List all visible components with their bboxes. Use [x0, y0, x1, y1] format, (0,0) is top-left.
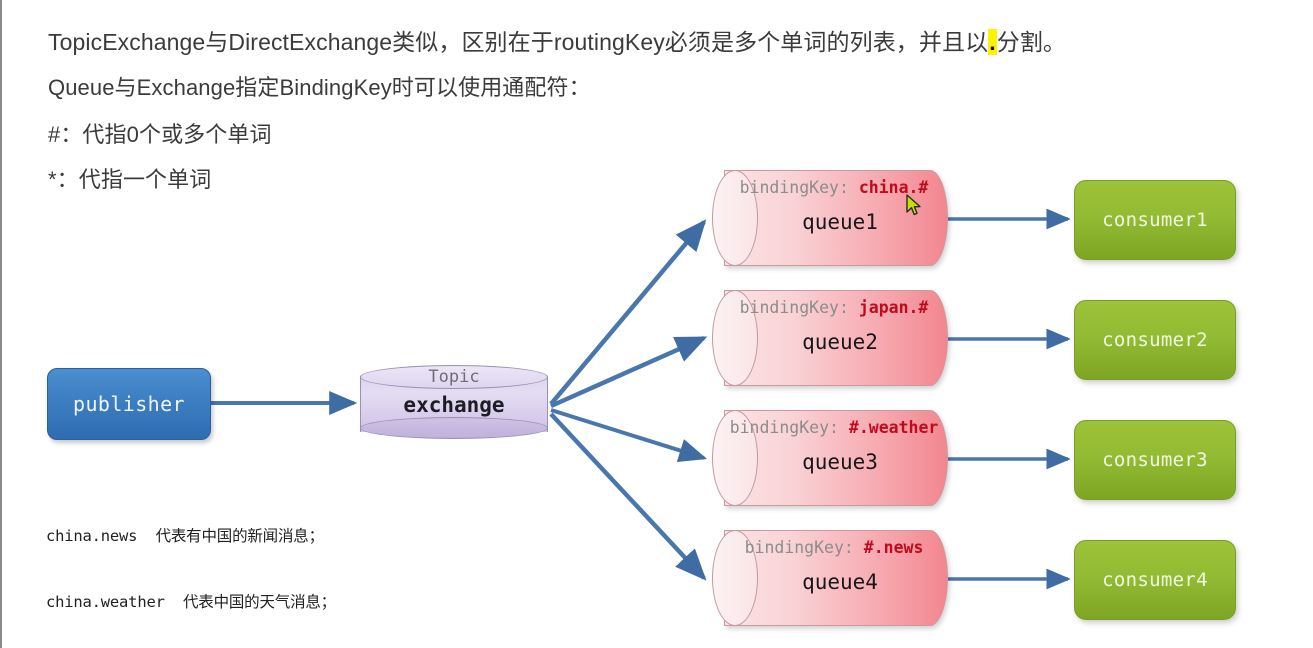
queue-node-2[interactable]: bindingKey: japan.# queue2 — [712, 290, 948, 386]
consumer-label-1: consumer1 — [1102, 209, 1208, 231]
binding-key-value: #.weather — [849, 418, 938, 437]
queue-name-2: queue2 — [726, 330, 954, 354]
consumer-node-4[interactable]: consumer4 — [1074, 540, 1236, 620]
slide-canvas: TopicExchange与DirectExchange类似，区别在于routi… — [0, 0, 1313, 648]
consumer-node-2[interactable]: consumer2 — [1074, 300, 1236, 380]
publisher-node[interactable]: publisher — [47, 368, 211, 440]
binding-key-label: bindingKey: — [745, 538, 854, 557]
exchange-name-label: exchange — [360, 393, 548, 417]
consumer-node-3[interactable]: consumer3 — [1074, 420, 1236, 500]
explanation-text-block: TopicExchange与DirectExchange类似，区别在于routi… — [48, 28, 1198, 194]
legend-line-1: china.news 代表有中国的新闻消息； — [46, 525, 336, 547]
exchange-type-label: Topic — [360, 367, 548, 387]
queue-node-1[interactable]: bindingKey: china.# queue1 — [712, 170, 948, 266]
prose-line-1-part-b: 分割。 — [997, 29, 1066, 55]
queue-binding-key-2: bindingKey: japan.# — [720, 298, 948, 317]
legend-line-2: china.weather 代表中国的天气消息； — [46, 591, 336, 613]
edge-exchange-to-queue1 — [551, 222, 704, 404]
consumer-label-2: consumer2 — [1102, 329, 1208, 351]
queue-name-3: queue3 — [726, 450, 954, 474]
exchange-cylinder-bottom — [360, 417, 548, 439]
prose-line-3: #：代指0个或多个单词 — [48, 121, 1198, 149]
binding-key-label: bindingKey: — [730, 418, 839, 437]
queue-name-4: queue4 — [726, 570, 954, 594]
queue-node-4[interactable]: bindingKey: #.news queue4 — [712, 530, 948, 626]
queue-binding-key-3: bindingKey: #.weather — [720, 418, 948, 437]
queue-binding-key-4: bindingKey: #.news — [720, 538, 948, 557]
binding-key-label: bindingKey: — [740, 178, 849, 197]
prose-line-1: TopicExchange与DirectExchange类似，区别在于routi… — [48, 28, 1198, 57]
topic-exchange-node[interactable]: Topic exchange — [360, 365, 548, 437]
edge-exchange-to-queue4 — [551, 414, 704, 578]
binding-key-value: #.news — [864, 538, 924, 557]
dot-highlight: . — [988, 29, 997, 55]
edge-exchange-to-queue2 — [551, 338, 704, 406]
edge-exchange-to-queue3 — [551, 410, 704, 458]
queue-binding-key-1: bindingKey: china.# — [720, 178, 948, 197]
consumer-label-4: consumer4 — [1102, 569, 1208, 591]
routing-key-legend: china.news 代表有中国的新闻消息； china.weather 代表中… — [46, 481, 336, 648]
prose-line-2: Queue与Exchange指定BindingKey时可以使用通配符： — [48, 74, 1198, 102]
queue-node-3[interactable]: bindingKey: #.weather queue3 — [712, 410, 948, 506]
prose-line-1-part-a: TopicExchange与DirectExchange类似，区别在于routi… — [48, 29, 988, 55]
binding-key-value: china.# — [859, 178, 929, 197]
queue-name-1: queue1 — [726, 210, 954, 234]
consumer-label-3: consumer3 — [1102, 449, 1208, 471]
publisher-label: publisher — [73, 392, 185, 416]
prose-line-4: *：代指一个单词 — [48, 166, 1198, 194]
binding-key-value: japan.# — [859, 298, 929, 317]
consumer-node-1[interactable]: consumer1 — [1074, 180, 1236, 260]
binding-key-label: bindingKey: — [740, 298, 849, 317]
